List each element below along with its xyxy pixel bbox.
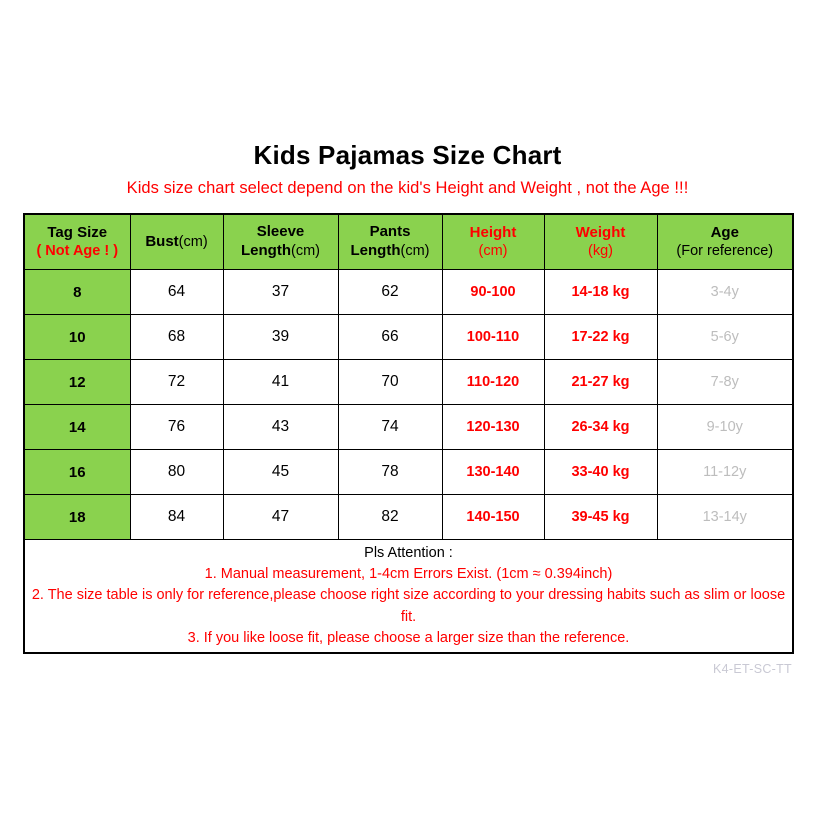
cell-pants-length: 82 <box>338 495 442 540</box>
cell-pants-length: 78 <box>338 450 442 495</box>
sleeve-unit: (cm) <box>291 243 320 259</box>
cell-pants-length: 74 <box>338 405 442 450</box>
cell-age: 3-4y <box>657 270 793 315</box>
cell-height: 100-110 <box>442 315 544 360</box>
age-sublabel: (For reference) <box>658 242 793 260</box>
cell-height: 130-140 <box>442 450 544 495</box>
column-header-bust: Bust(cm) <box>130 214 223 270</box>
cell-bust: 68 <box>130 315 223 360</box>
cell-age: 9-10y <box>657 405 793 450</box>
table-row: 10683966100-11017-22 kg5-6y <box>24 315 793 360</box>
notes-heading: Pls Attention : <box>25 543 792 564</box>
table-row: 14764374120-13026-34 kg9-10y <box>24 405 793 450</box>
table-row: 18844782140-15039-45 kg13-14y <box>24 495 793 540</box>
cell-bust: 80 <box>130 450 223 495</box>
cell-tag-size: 8 <box>24 270 130 315</box>
height-label: Height <box>443 224 544 243</box>
cell-weight: 39-45 kg <box>544 495 657 540</box>
cell-sleeve-length: 45 <box>223 450 338 495</box>
size-chart-page: Kids Pajamas Size Chart Kids size chart … <box>0 0 815 815</box>
cell-sleeve-length: 47 <box>223 495 338 540</box>
cell-tag-size: 14 <box>24 405 130 450</box>
table-row: 12724170110-12021-27 kg7-8y <box>24 360 793 405</box>
size-chart-table: Tag Size ( Not Age ! ) Bust(cm) Sleeve L… <box>23 213 794 654</box>
pants-unit: (cm) <box>401 243 430 259</box>
cell-bust: 84 <box>130 495 223 540</box>
column-header-age: Age (For reference) <box>657 214 793 270</box>
cell-sleeve-length: 37 <box>223 270 338 315</box>
column-header-pants-length: Pants Length(cm) <box>338 214 442 270</box>
cell-bust: 64 <box>130 270 223 315</box>
cell-pants-length: 62 <box>338 270 442 315</box>
cell-weight: 21-27 kg <box>544 360 657 405</box>
column-header-tag-size: Tag Size ( Not Age ! ) <box>24 214 130 270</box>
pants-sublabel: Length <box>351 242 401 259</box>
tag-size-label: Tag Size <box>25 224 130 243</box>
cell-age: 5-6y <box>657 315 793 360</box>
cell-height: 90-100 <box>442 270 544 315</box>
sleeve-label: Sleeve <box>224 223 338 242</box>
notes-line-3: 3. If you like loose fit, please choose … <box>25 628 792 649</box>
bust-label: Bust <box>145 233 178 250</box>
notes-line-1: 1. Manual measurement, 1-4cm Errors Exis… <box>25 564 792 585</box>
table-row: 864376290-10014-18 kg3-4y <box>24 270 793 315</box>
height-unit: (cm) <box>443 242 544 260</box>
weight-unit: (kg) <box>545 242 657 260</box>
size-chart-table-container: Tag Size ( Not Age ! ) Bust(cm) Sleeve L… <box>23 213 792 654</box>
table-body: 864376290-10014-18 kg3-4y10683966100-110… <box>24 270 793 540</box>
cell-age: 7-8y <box>657 360 793 405</box>
cell-weight: 33-40 kg <box>544 450 657 495</box>
page-subtitle: Kids size chart select depend on the kid… <box>0 179 815 198</box>
notes-line-2: 2. The size table is only for reference,… <box>25 585 792 627</box>
column-header-sleeve-length: Sleeve Length(cm) <box>223 214 338 270</box>
cell-bust: 72 <box>130 360 223 405</box>
cell-tag-size: 16 <box>24 450 130 495</box>
notes-row: Pls Attention : 1. Manual measurement, 1… <box>24 540 793 654</box>
cell-height: 140-150 <box>442 495 544 540</box>
cell-sleeve-length: 43 <box>223 405 338 450</box>
cell-tag-size: 18 <box>24 495 130 540</box>
bust-unit: (cm) <box>179 234 208 250</box>
cell-weight: 26-34 kg <box>544 405 657 450</box>
notes-cell: Pls Attention : 1. Manual measurement, 1… <box>24 540 793 654</box>
cell-tag-size: 10 <box>24 315 130 360</box>
age-label: Age <box>658 224 793 243</box>
tag-size-note: ( Not Age ! ) <box>25 242 130 260</box>
cell-sleeve-length: 41 <box>223 360 338 405</box>
sleeve-sublabel: Length <box>241 242 291 259</box>
cell-weight: 17-22 kg <box>544 315 657 360</box>
column-header-weight: Weight (kg) <box>544 214 657 270</box>
cell-pants-length: 70 <box>338 360 442 405</box>
cell-age: 13-14y <box>657 495 793 540</box>
cell-sleeve-length: 39 <box>223 315 338 360</box>
cell-weight: 14-18 kg <box>544 270 657 315</box>
cell-pants-length: 66 <box>338 315 442 360</box>
watermark-code: K4-ET-SC-TT <box>660 662 792 676</box>
column-header-height: Height (cm) <box>442 214 544 270</box>
cell-height: 120-130 <box>442 405 544 450</box>
table-footer: Pls Attention : 1. Manual measurement, 1… <box>24 540 793 654</box>
pants-label: Pants <box>339 223 442 242</box>
table-row: 16804578130-14033-40 kg11-12y <box>24 450 793 495</box>
weight-label: Weight <box>545 224 657 243</box>
cell-bust: 76 <box>130 405 223 450</box>
header-row: Tag Size ( Not Age ! ) Bust(cm) Sleeve L… <box>24 214 793 270</box>
cell-height: 110-120 <box>442 360 544 405</box>
cell-age: 11-12y <box>657 450 793 495</box>
table-header: Tag Size ( Not Age ! ) Bust(cm) Sleeve L… <box>24 214 793 270</box>
page-title: Kids Pajamas Size Chart <box>0 140 815 171</box>
cell-tag-size: 12 <box>24 360 130 405</box>
